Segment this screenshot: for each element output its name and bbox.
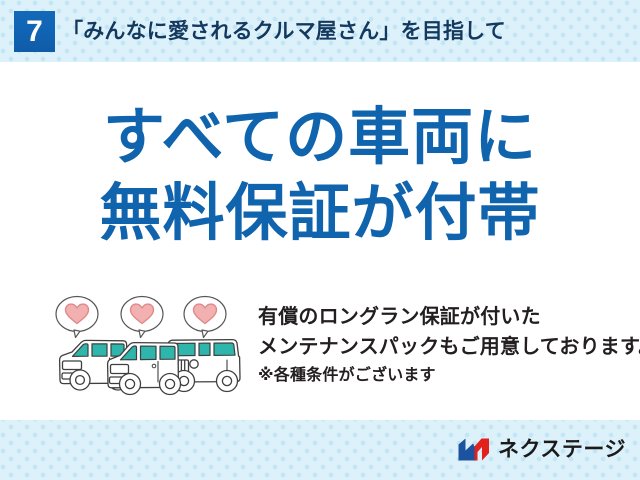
body-copy-line-1: 有償のロングラン保証が付いた: [258, 302, 630, 332]
heart-bubble-1: [56, 297, 98, 338]
heart-bubble-3: [184, 297, 226, 338]
body-copy: 有償のロングラン保証が付いた メンテナンスパックもご用意しております。 ※各種条…: [258, 302, 630, 389]
headline: すべての車両に 無料保証が付帯: [0, 100, 640, 252]
brand-name: ネクステージ: [498, 437, 626, 462]
n-logo-icon: [457, 437, 491, 462]
section-number-badge: 7: [14, 11, 55, 52]
promo-banner: 7 「みんなに愛されるクルマ屋さん」を目指して すべての車両に 無料保証が付帯: [0, 0, 640, 480]
header: 7 「みんなに愛されるクルマ屋さん」を目指して: [0, 0, 640, 62]
body-copy-note: ※各種条件がございます: [258, 362, 630, 389]
header-title: 「みんなに愛されるクルマ屋さん」を目指して: [62, 13, 506, 51]
brand-logo: ネクステージ: [457, 434, 626, 464]
footer: ネクステージ: [0, 420, 640, 480]
headline-line-1: すべての車両に: [0, 100, 640, 176]
body-copy-line-2: メンテナンスパックもご用意しております。: [258, 332, 630, 362]
headline-line-2: 無料保証が付帯: [0, 176, 640, 252]
content-panel: すべての車両に 無料保証が付帯: [0, 62, 640, 420]
lower-section: 有償のロングラン保証が付いた メンテナンスパックもご用意しております。 ※各種条…: [0, 294, 640, 420]
cars-illustration-svg: [50, 294, 255, 398]
cars-illustration: [50, 294, 255, 398]
heart-bubble-2: [121, 297, 163, 338]
